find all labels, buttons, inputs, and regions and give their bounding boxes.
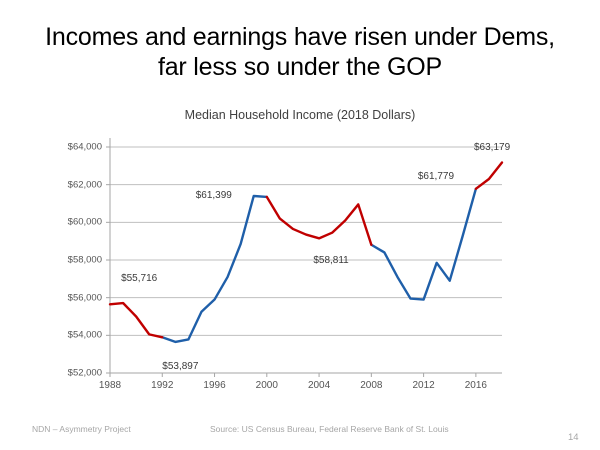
x-axis-tick-label: 2004: [299, 380, 339, 391]
x-axis-tick-label: 2016: [456, 380, 496, 391]
x-axis-tick-label: 1992: [142, 380, 182, 391]
y-axis-tick-label: $52,000: [50, 368, 102, 379]
y-axis-tick-label: $60,000: [50, 217, 102, 228]
slide: Incomes and earnings have risen under De…: [0, 0, 600, 450]
x-axis-tick-label: 1988: [90, 380, 130, 391]
data-point-label: $55,716: [121, 273, 157, 284]
x-axis-tick-label: 1996: [195, 380, 235, 391]
chart-line-republican: [110, 303, 162, 337]
chart-line-republican: [267, 197, 372, 245]
data-point-label: $53,897: [162, 361, 198, 372]
x-axis-tick-label: 2000: [247, 380, 287, 391]
chart-line-democrat: [371, 189, 476, 300]
y-axis-tick-label: $58,000: [50, 255, 102, 266]
data-point-label: $61,399: [196, 190, 232, 201]
data-point-label: $61,779: [418, 171, 454, 182]
y-axis-tick-label: $56,000: [50, 292, 102, 303]
x-axis-tick-label: 2012: [404, 380, 444, 391]
chart-line-democrat: [162, 196, 267, 342]
y-axis-tick-label: $54,000: [50, 330, 102, 341]
footer-attribution: NDN – Asymmetry Project: [32, 424, 131, 434]
chart-plot-area: $52,000$54,000$56,000$58,000$60,000$62,0…: [0, 0, 600, 450]
page-number: 14: [568, 432, 579, 443]
x-axis-tick-label: 2008: [351, 380, 391, 391]
y-axis-tick-label: $64,000: [50, 142, 102, 153]
footer-source: Source: US Census Bureau, Federal Reserv…: [210, 424, 449, 434]
y-axis-tick-label: $62,000: [50, 179, 102, 190]
data-point-label: $58,811: [313, 255, 348, 266]
data-point-label: $63,179: [474, 142, 510, 153]
